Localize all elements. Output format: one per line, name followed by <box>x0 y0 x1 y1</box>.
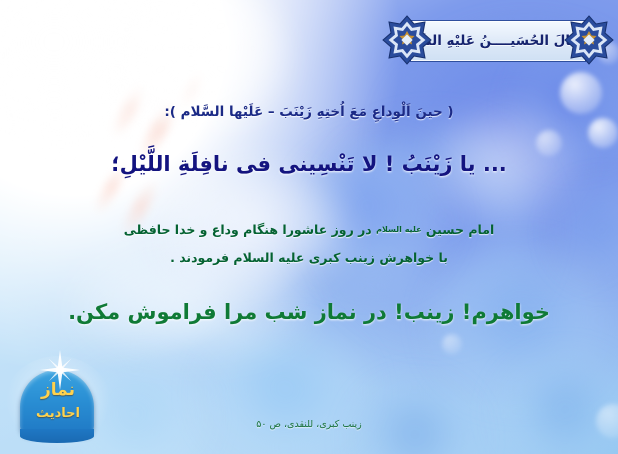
persian-line-1-rest: در روز عاشورا هنگام وداع و خدا حافظى <box>124 222 372 237</box>
hadith-title-banner: قــــالَ الحُسَيــــنُ عَليْهِ السَّلام <box>384 12 612 68</box>
banner-plate: قــــالَ الحُسَيــــنُ عَليْهِ السَّلام <box>410 20 586 62</box>
hadith-card: قــــالَ الحُسَيــــنُ عَليْهِ السَّلام … <box>0 0 618 454</box>
pbuh-honorific: عليه السلام <box>376 225 421 234</box>
banner-title-text: قــــالَ الحُسَيــــنُ عَليْهِ السَّلام <box>411 21 585 61</box>
hadith-arabic-quote: ... يا زَيْنَبُ ! لا تَنْسِينى فى نافِلَ… <box>0 152 618 176</box>
sparkle-icon <box>40 350 80 390</box>
islamic-star-medallion-left-icon <box>382 15 432 65</box>
persian-main-translation: خواهرم! زينب! در نماز شب مرا فراموش مكن. <box>0 300 618 324</box>
persian-imam-name: امام حسين <box>426 222 494 237</box>
site-logo[interactable]: نماز احادیث <box>10 352 106 446</box>
persian-translation-line-1: امام حسين عليه السلام در روز عاشورا هنگا… <box>0 222 618 237</box>
hadith-context-line: ( حينَ اَلْوِداعِ مَعَ اُختِهِ زَيْنَبَ … <box>0 104 618 120</box>
persian-translation-line-2: با خواهرش زينب كبرى عليه السلام فرمودند … <box>0 250 618 265</box>
islamic-star-medallion-right-icon <box>564 15 614 65</box>
logo-word-ahadith: احادیث <box>10 406 106 421</box>
